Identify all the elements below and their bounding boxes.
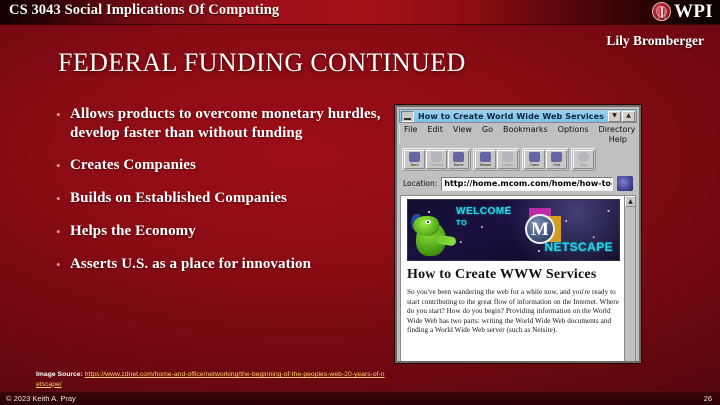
- location-label: Location:: [403, 179, 437, 188]
- banner-brand-text: NETSCAPE: [544, 240, 613, 254]
- image-source-citation: Image Source: https://www.zdnet.com/home…: [36, 370, 386, 389]
- toolbar-group-open-find: Open Find: [522, 148, 569, 171]
- forward-arrow-icon: [431, 152, 442, 162]
- banner-welcome-line1: WELCOME: [456, 206, 512, 217]
- images-button: Images: [497, 150, 518, 169]
- arrow-up-icon: ▲: [625, 196, 636, 207]
- netscape-welcome-banner: WELCOME TO M NETSCAPE: [407, 199, 620, 261]
- menu-item-go: Go: [482, 125, 493, 134]
- netscape-toolbar: Back Forward Home Reload: [399, 146, 637, 173]
- netscape-window-controls: ▼ ▲: [608, 111, 635, 122]
- bullet-marker-icon: •: [56, 222, 70, 242]
- bullet-text: Creates Companies: [70, 156, 196, 175]
- toolbar-group-stop: Stop: [571, 148, 596, 171]
- back-button: Back: [404, 150, 425, 169]
- netscape-page-heading: How to Create WWW Services: [407, 267, 620, 283]
- menu-item-directory: Directory: [599, 125, 636, 134]
- toolbar-group-reload: Reload Images: [473, 148, 520, 171]
- bullet-marker-icon: •: [56, 255, 70, 275]
- netscape-menu-row-help: Help: [404, 135, 633, 144]
- author-name: Lily Bromberger: [606, 33, 704, 49]
- course-title: CS 3043 Social Implications Of Computing: [9, 2, 279, 19]
- toolbar-label: Stop: [580, 163, 587, 167]
- toolbar-label: Open: [530, 163, 539, 167]
- toolbar-label: Find: [553, 163, 560, 167]
- menu-item-help: Help: [609, 135, 627, 144]
- netscape-menu-row: File Edit View Go Bookmarks Options Dire…: [404, 125, 633, 134]
- menu-item-options: Options: [558, 125, 589, 134]
- menu-item-view: View: [453, 125, 472, 134]
- location-input: http://home.mcom.com/home/how-to-create-: [441, 177, 613, 191]
- bullet-text: Builds on Established Companies: [70, 189, 287, 208]
- images-icon: [502, 152, 513, 162]
- slide-footer: © 2023 Keith A. Pray 26: [0, 391, 720, 405]
- list-item: • Creates Companies: [56, 156, 381, 176]
- image-source-label: Image Source:: [36, 371, 83, 378]
- chevron-down-icon: ▼: [608, 111, 621, 122]
- page-title: FEDERAL FUNDING CONTINUED: [58, 48, 466, 78]
- vertical-scrollbar: ▲ ▼: [624, 196, 635, 363]
- maximize-icon: ▲: [622, 111, 635, 122]
- netscape-menu-bar: File Edit View Go Bookmarks Options Dire…: [399, 123, 637, 144]
- toolbar-group-navigation: Back Forward Home: [402, 148, 471, 171]
- list-item: • Asserts U.S. as a place for innovation: [56, 255, 381, 275]
- home-icon: [453, 152, 464, 162]
- bullet-text: Allows products to overcome monetary hur…: [70, 105, 381, 143]
- wpi-seal-icon: [652, 2, 671, 21]
- badge-letter: M: [531, 220, 549, 239]
- netscape-page-body: So you've been wandering the web for a w…: [407, 288, 620, 336]
- stop-button: Stop: [573, 150, 594, 169]
- netscape-content-area: WELCOME TO M NETSCAPE How to Create WWW …: [400, 195, 636, 363]
- netscape-window-title: How to Create World Wide Web Services: [414, 112, 608, 121]
- list-item: • Helps the Economy: [56, 222, 381, 242]
- netscape-screenshot-image: How to Create World Wide Web Services ▼ …: [395, 105, 641, 363]
- netscape-page: WELCOME TO M NETSCAPE How to Create WWW …: [401, 196, 624, 363]
- bullet-marker-icon: •: [56, 105, 70, 125]
- toolbar-label: Images: [502, 163, 514, 167]
- back-arrow-icon: [409, 152, 420, 162]
- find-button: Find: [546, 150, 567, 169]
- wpi-logo-text: WPI: [674, 2, 713, 21]
- bullet-list: • Allows products to overcome monetary h…: [56, 105, 381, 288]
- reload-button: Reload: [475, 150, 496, 169]
- bullet-text: Helps the Economy: [70, 222, 196, 241]
- open-icon: [529, 152, 540, 162]
- menu-item-file: File: [404, 125, 417, 134]
- banner-welcome-text: WELCOME TO: [456, 206, 512, 228]
- slide: CS 3043 Social Implications Of Computing…: [0, 0, 720, 405]
- toolbar-label: Back: [411, 163, 419, 167]
- wpi-logo: WPI: [652, 2, 713, 21]
- toolbar-label: Reload: [480, 163, 491, 167]
- reload-icon: [480, 152, 491, 162]
- stop-icon: [578, 152, 589, 162]
- banner-welcome-line2: TO: [456, 218, 467, 227]
- menu-item-bookmarks: Bookmarks: [503, 125, 548, 134]
- netscape-location-bar: Location: http://home.mcom.com/home/how-…: [399, 173, 637, 195]
- toolbar-label: Home: [454, 163, 464, 167]
- page-number: 26: [704, 394, 712, 403]
- netscape-title-bar: How to Create World Wide Web Services ▼ …: [399, 109, 637, 123]
- toolbar-label: Forward: [430, 163, 443, 167]
- forward-button: Forward: [426, 150, 447, 169]
- bullet-marker-icon: •: [56, 156, 70, 176]
- open-button: Open: [524, 150, 545, 169]
- find-icon: [551, 152, 562, 162]
- minimize-icon: [401, 111, 414, 122]
- slide-header-bar: CS 3043 Social Implications Of Computing…: [0, 0, 720, 25]
- netscape-n-icon: [617, 176, 633, 191]
- list-item: • Builds on Established Companies: [56, 189, 381, 209]
- mozilla-dinosaur-icon: [412, 212, 458, 261]
- menu-item-edit: Edit: [427, 125, 443, 134]
- netscape-window: How to Create World Wide Web Services ▼ …: [397, 107, 639, 361]
- copyright-text: © 2023 Keith A. Pray: [6, 394, 76, 403]
- image-source-link[interactable]: https://www.zdnet.com/home-and-office/ne…: [36, 371, 385, 388]
- arrow-down-icon: ▼: [625, 361, 636, 363]
- bullet-marker-icon: •: [56, 189, 70, 209]
- bullet-text: Asserts U.S. as a place for innovation: [70, 255, 311, 274]
- list-item: • Allows products to overcome monetary h…: [56, 105, 381, 143]
- home-button: Home: [448, 150, 469, 169]
